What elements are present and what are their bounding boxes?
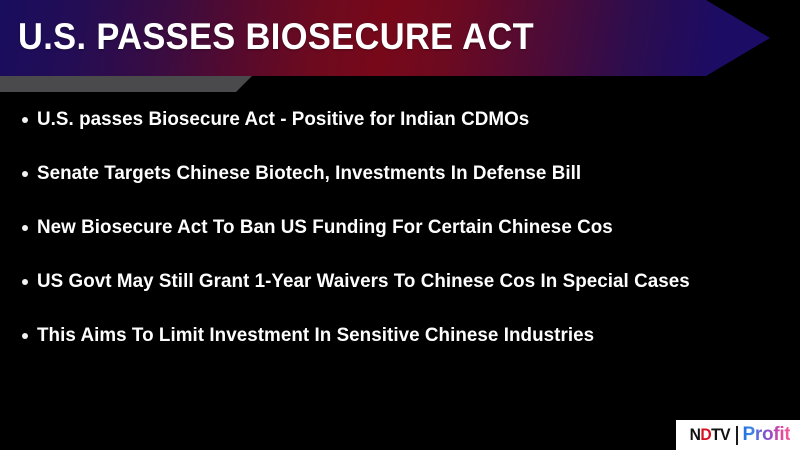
logo-brand-prefix: N	[689, 425, 700, 444]
list-item: Senate Targets Chinese Biotech, Investme…	[0, 158, 800, 192]
bullet-dot-icon	[22, 333, 28, 339]
ndtv-profit-logo: NDTV Profit	[676, 420, 800, 450]
logo-brand-accent: D	[700, 425, 711, 444]
headline-bullet-list: U.S. passes Biosecure Act - Positive for…	[0, 104, 800, 354]
logo-ndtv-wordmark: NDTV	[689, 425, 731, 445]
list-item: U.S. passes Biosecure Act - Positive for…	[0, 104, 800, 138]
list-item-label: US Govt May Still Grant 1-Year Waivers T…	[37, 266, 690, 297]
list-item: This Aims To Limit Investment In Sensiti…	[0, 320, 800, 354]
list-item-label: U.S. passes Biosecure Act - Positive for…	[37, 104, 529, 135]
list-item-label: New Biosecure Act To Ban US Funding For …	[37, 212, 613, 243]
bullet-dot-icon	[22, 225, 28, 231]
logo-brand-suffix: TV	[711, 425, 730, 444]
list-item-label: Senate Targets Chinese Biotech, Investme…	[37, 158, 581, 189]
header-accent-bar	[0, 76, 252, 92]
bullet-dot-icon	[22, 279, 28, 285]
logo-inner: NDTV Profit	[686, 420, 791, 450]
bullet-dot-icon	[22, 171, 28, 177]
bullet-dot-icon	[22, 117, 28, 123]
list-item: New Biosecure Act To Ban US Funding For …	[0, 212, 800, 246]
page-title: U.S. PASSES BIOSECURE ACT	[18, 12, 534, 62]
list-item: US Govt May Still Grant 1-Year Waivers T…	[0, 266, 800, 300]
logo-product-wordmark: Profit	[743, 424, 791, 446]
list-item-label: This Aims To Limit Investment In Sensiti…	[37, 320, 594, 351]
logo-divider	[736, 426, 738, 445]
news-lower-third-slide: U.S. PASSES BIOSECURE ACT U.S. passes Bi…	[0, 0, 800, 450]
